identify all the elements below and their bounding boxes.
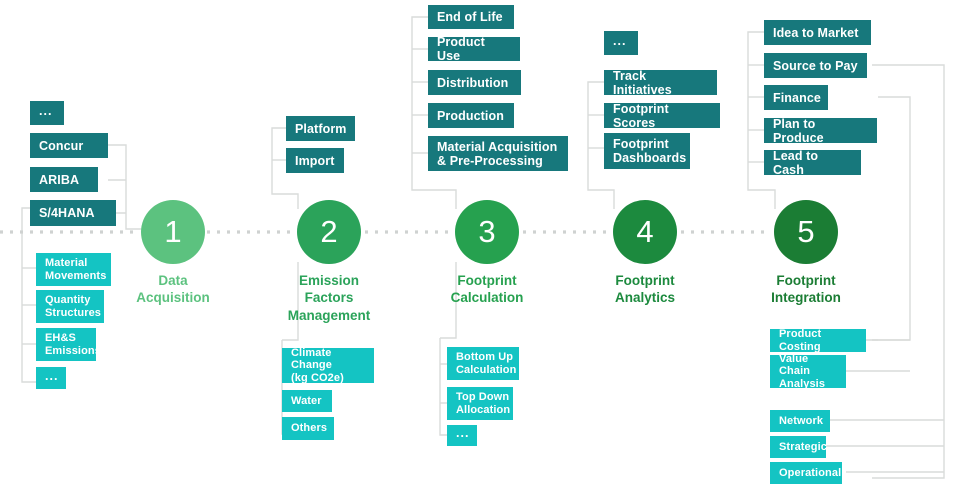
node-g1-top-1[interactable]: Concur [30, 133, 108, 158]
node-g1-top-0[interactable]: ... [30, 101, 64, 125]
node-g5-bottom-2[interactable]: Network [770, 410, 830, 432]
node-g4-top-0[interactable]: ... [604, 31, 638, 55]
node-g5-top-2[interactable]: Finance [764, 85, 828, 110]
node-g2-bottom-0[interactable]: Climate Change (kg CO2e) [282, 348, 374, 383]
node-g5-bottom-0[interactable]: Product Costing [770, 329, 866, 352]
diagram-canvas: ... Concur ARIBA S/4HANA Material Moveme… [0, 0, 958, 489]
node-g5-bottom-1[interactable]: Value Chain Analysis [770, 355, 846, 388]
node-g5-top-3[interactable]: Plan to Produce [764, 118, 877, 143]
node-g3-top-1[interactable]: Product Use [428, 37, 520, 61]
node-g1-bottom-2[interactable]: EH&S Emissions [36, 328, 96, 361]
node-g1-top-3[interactable]: S/4HANA [30, 200, 116, 226]
step-circle-4[interactable]: 4 [613, 200, 677, 264]
node-g4-top-1[interactable]: Track Initiatives [604, 70, 717, 95]
node-g3-top-2[interactable]: Distribution [428, 70, 521, 95]
node-g3-top-0[interactable]: End of Life [428, 5, 514, 29]
node-g3-bottom-2[interactable]: ... [447, 425, 477, 446]
node-g4-top-3[interactable]: Footprint Dashboards [604, 133, 690, 169]
node-g3-bottom-1[interactable]: Top Down Allocation [447, 387, 513, 420]
node-g1-bottom-1[interactable]: Quantity Structures [36, 290, 104, 323]
node-g3-top-4[interactable]: Material Acquisition & Pre-Processing [428, 136, 568, 171]
step-circle-5[interactable]: 5 [774, 200, 838, 264]
node-g5-top-0[interactable]: Idea to Market [764, 20, 871, 45]
step-circle-1[interactable]: 1 [141, 200, 205, 264]
node-g3-bottom-0[interactable]: Bottom Up Calculation [447, 347, 519, 380]
step-label-5: Footprint Integration [741, 272, 871, 307]
node-g5-bottom-3[interactable]: Strategic [770, 436, 826, 458]
step-circle-3[interactable]: 3 [455, 200, 519, 264]
node-g2-top-1[interactable]: Import [286, 148, 344, 173]
node-g3-top-3[interactable]: Production [428, 103, 514, 128]
step-circle-2[interactable]: 2 [297, 200, 361, 264]
step-label-2: Emission Factors Management [264, 272, 394, 324]
node-g2-bottom-2[interactable]: Others [282, 417, 334, 440]
node-g2-bottom-1[interactable]: Water [282, 390, 332, 412]
node-g5-bottom-4[interactable]: Operational [770, 462, 842, 484]
node-g4-top-2[interactable]: Footprint Scores [604, 103, 720, 128]
node-g5-top-1[interactable]: Source to Pay [764, 53, 867, 78]
step-label-4: Footprint Analytics [580, 272, 710, 307]
node-g5-top-4[interactable]: Lead to Cash [764, 150, 861, 175]
node-g1-top-2[interactable]: ARIBA [30, 167, 98, 192]
node-g1-bottom-0[interactable]: Material Movements [36, 253, 111, 286]
node-g1-bottom-3[interactable]: ... [36, 367, 66, 389]
step-label-1: Data Acquisition [108, 272, 238, 307]
node-g2-top-0[interactable]: Platform [286, 116, 355, 141]
step-label-3: Footprint Calculation [422, 272, 552, 307]
